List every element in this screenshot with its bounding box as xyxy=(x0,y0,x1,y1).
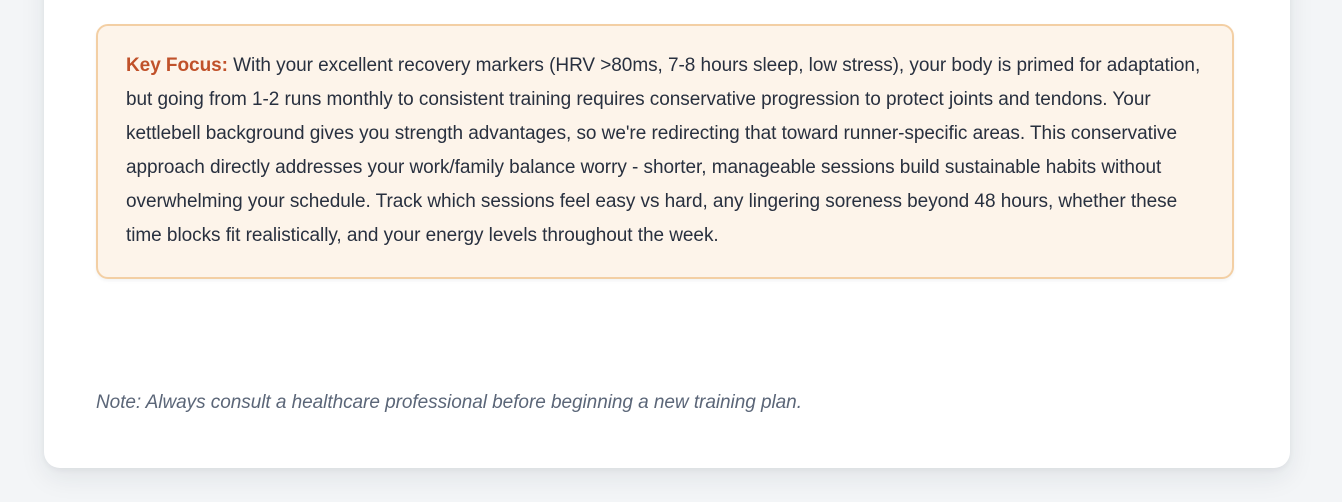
key-focus-body: With your excellent recovery markers (HR… xyxy=(126,55,1200,246)
key-focus-callout: Key Focus: With your excellent recovery … xyxy=(96,24,1234,279)
content-card: Key Focus: With your excellent recovery … xyxy=(44,0,1290,468)
disclaimer-note: Note: Always consult a healthcare profes… xyxy=(96,388,802,418)
key-focus-label: Key Focus: xyxy=(126,55,228,76)
key-focus-paragraph: Key Focus: With your excellent recovery … xyxy=(126,49,1206,253)
card-body: Key Focus: With your excellent recovery … xyxy=(44,0,1290,468)
